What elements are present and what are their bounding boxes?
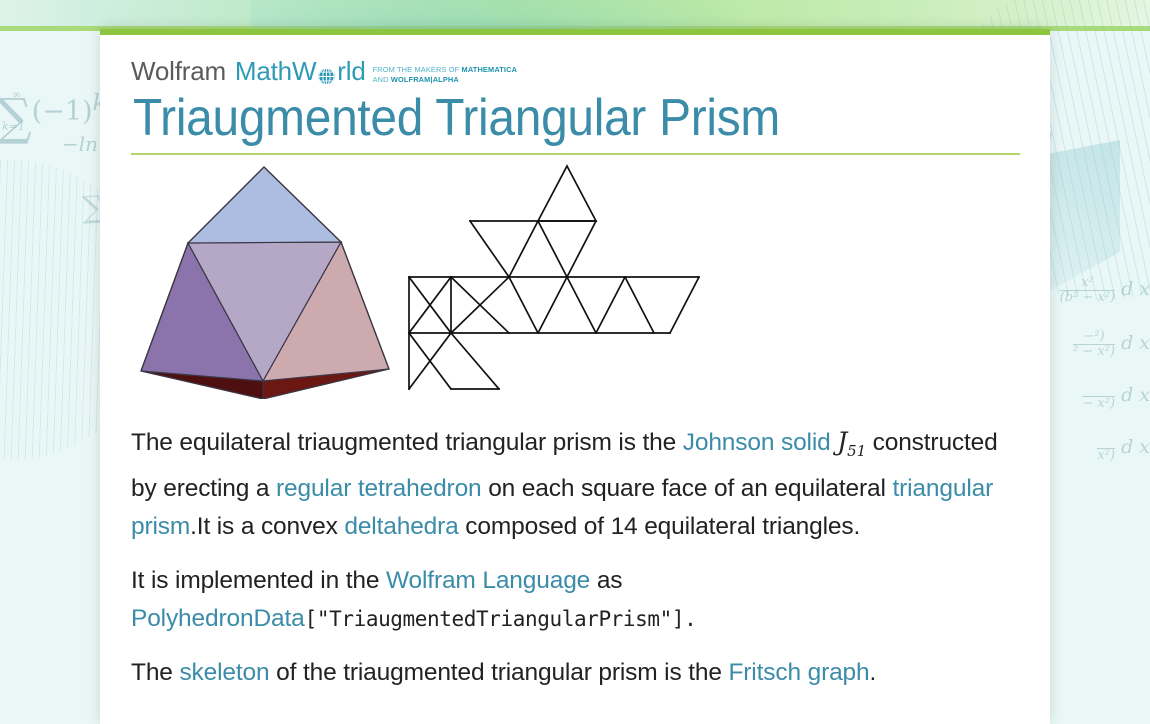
math-symbol-j51: J51 bbox=[837, 427, 866, 456]
math-symbol-j: J bbox=[837, 427, 847, 456]
paragraph-skeleton: The skeleton of the triaugmented triangu… bbox=[131, 654, 1020, 692]
fraction-3-differential: d x bbox=[1121, 384, 1150, 406]
paragraph-implementation: It is implemented in the Wolfram Languag… bbox=[131, 562, 1020, 638]
fraction-2: −²) ² − x²) bbox=[1073, 330, 1115, 358]
paragraph-definition: The equilateral triaugmented triangular … bbox=[131, 423, 1020, 546]
link-regular-tetrahedron[interactable]: regular tetrahedron bbox=[276, 475, 482, 502]
fraction-4: x²) bbox=[1097, 434, 1115, 462]
tagline-line-1-prefix: FROM THE MAKERS OF bbox=[373, 65, 462, 74]
logo-wolfram-text: Wolfram bbox=[131, 56, 226, 87]
text-run: composed of 14 equilateral triangles. bbox=[459, 513, 861, 540]
math-subscript-51: 51 bbox=[847, 442, 866, 460]
fraction-2-numerator: −²) bbox=[1073, 330, 1115, 344]
fraction-3-denominator: − x²) bbox=[1082, 396, 1115, 411]
background-formula-integral-2: −²) ² − x²) d x bbox=[1073, 330, 1150, 358]
net-triangle-edges bbox=[409, 166, 699, 389]
text-run: It is implemented in the bbox=[131, 567, 386, 594]
tagline-line-1: FROM THE MAKERS OF MATHEMATICA bbox=[373, 65, 518, 74]
logo-w-letter: W bbox=[292, 56, 316, 87]
solid-face-top-blue bbox=[188, 167, 341, 243]
text-run: as bbox=[590, 567, 622, 594]
fraction-4-denominator: x²) bbox=[1097, 448, 1115, 463]
page-title: Triaugmented Triangular Prism bbox=[133, 89, 949, 147]
site-logo[interactable]: Wolfram MathW rld bbox=[131, 57, 1020, 87]
link-johnson-solid[interactable]: Johnson solid bbox=[683, 429, 831, 456]
logo-orld-text: rld bbox=[337, 56, 365, 87]
fraction-2-differential: d x bbox=[1121, 332, 1150, 354]
link-deltahedra[interactable]: deltahedra bbox=[344, 513, 458, 540]
figure-row bbox=[131, 159, 1020, 417]
tagline-line-2: AND WOLFRAM|ALPHA bbox=[373, 75, 459, 84]
text-run: of the triaugmented triangular prism is … bbox=[270, 659, 729, 686]
link-wolfram-language[interactable]: Wolfram Language bbox=[386, 567, 590, 594]
title-underline-rule bbox=[131, 153, 1020, 155]
globe-icon bbox=[317, 62, 336, 81]
fraction-1-numerator: x² bbox=[1060, 276, 1115, 290]
fraction-4-differential: d x bbox=[1121, 436, 1150, 458]
background-formula-integral-1: x² (b² − x²) d x bbox=[1060, 276, 1150, 304]
article-card: Wolfram MathW rld bbox=[100, 29, 1050, 724]
text-run: . bbox=[870, 659, 877, 686]
tagline-line-2-bold: WOLFRAM|ALPHA bbox=[391, 75, 459, 84]
link-skeleton[interactable]: skeleton bbox=[179, 659, 269, 686]
triaugmented-triangular-prism-net-figure bbox=[399, 159, 709, 401]
link-polyhedrondata[interactable]: PolyhedronData bbox=[131, 605, 305, 632]
logo-math-text: Math bbox=[235, 56, 292, 87]
fraction-1-denominator: (b² − x²) bbox=[1060, 290, 1115, 305]
logo-tagline: FROM THE MAKERS OF MATHEMATICA AND WOLFR… bbox=[373, 65, 518, 84]
summation-lower-limit: k=1 bbox=[2, 120, 25, 133]
fraction-1-differential: d x bbox=[1121, 278, 1150, 300]
code-polyhedrondata-argument: ["TriaugmentedTriangularPrism"]. bbox=[305, 607, 697, 631]
tagline-line-1-bold: MATHEMATICA bbox=[462, 65, 518, 74]
background-formula-ln: −ln bbox=[62, 132, 98, 156]
background-formula-integral-3: − x²) d x bbox=[1082, 382, 1150, 410]
link-fritsch-graph[interactable]: Fritsch graph bbox=[728, 659, 869, 686]
text-run: on each square face of an equilateral bbox=[482, 475, 893, 502]
background-formula-integral-4: x²) d x bbox=[1097, 434, 1150, 462]
summation-body: (−1) bbox=[32, 96, 93, 127]
summation-upper-limit: ∞ bbox=[12, 88, 21, 101]
fraction-3: − x²) bbox=[1082, 382, 1115, 410]
logo-mathworld-text: MathW rld bbox=[235, 56, 366, 87]
text-run: The equilateral triaugmented triangular … bbox=[131, 429, 683, 456]
fraction-1: x² (b² − x²) bbox=[1060, 276, 1115, 304]
text-run: .It is a convex bbox=[190, 513, 344, 540]
article-body: The equilateral triaugmented triangular … bbox=[131, 423, 1020, 692]
fraction-2-denominator: ² − x²) bbox=[1073, 344, 1115, 359]
text-run: The bbox=[131, 659, 179, 686]
tagline-line-2-prefix: AND bbox=[373, 75, 391, 84]
triaugmented-triangular-prism-3d-figure bbox=[133, 159, 395, 399]
